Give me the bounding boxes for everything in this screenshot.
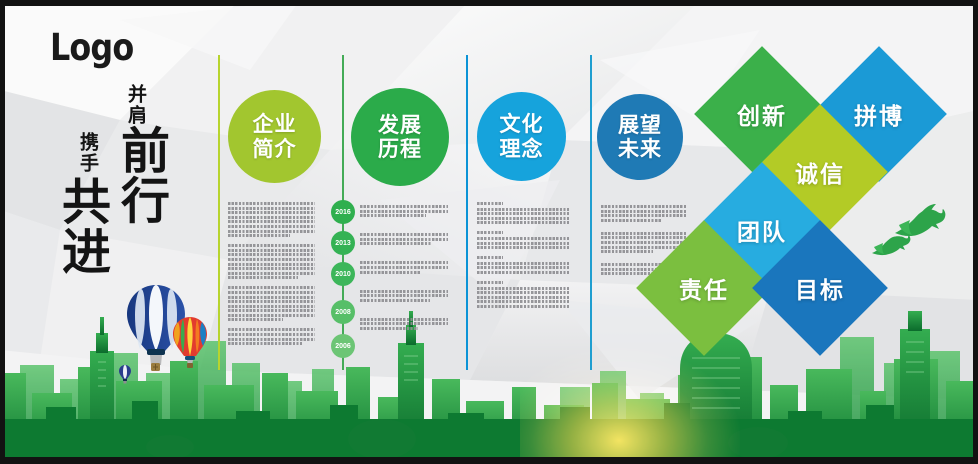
value-label: 目标 [795,271,845,305]
section-circle-company-profile[interactable]: 企业 简介 [228,90,321,183]
slogan-qianxing: 前行 [117,125,166,225]
paragraph [228,328,315,345]
paragraph [228,286,315,321]
timeline-dot-2013[interactable]: 2013 [331,231,355,255]
section-circle-culture-philosophy[interactable]: 文化 理念 [477,92,566,181]
circle-title-line1: 文化 [500,112,544,136]
value-label: 责任 [679,271,729,305]
paragraph [360,233,448,245]
slogan-xieshou: 携手 [78,132,97,174]
timeline-year: 2016 [335,209,351,216]
paragraph [360,205,448,217]
timeline-dot-2008[interactable]: 2008 [331,300,355,324]
circle-title-line1: 展望 [618,113,662,137]
hot-air-balloon-small-icon [172,316,208,368]
section-circle-development-history[interactable]: 发展 历程 [351,88,449,186]
circle-title-line2: 理念 [500,137,544,161]
timeline-dot-2006[interactable]: 2006 [331,334,355,358]
dove-icon [868,230,914,262]
paragraph [477,256,569,274]
timeline-year: 2008 [335,309,351,316]
divider-line-3 [466,55,468,370]
value-label: 诚信 [795,155,845,189]
divider-line-1 [218,55,220,370]
timeline-dot-2016[interactable]: 2016 [331,200,355,224]
paragraph [601,205,687,222]
text-block-development-history [360,205,448,337]
circle-title-line1: 发展 [378,113,422,137]
timeline-year: 2013 [335,240,351,247]
paragraph [360,290,448,302]
timeline-dot-2010[interactable]: 2010 [331,262,355,286]
text-block-company-profile [228,202,315,352]
paragraph [228,244,315,279]
slogan-gongjin: 共进 [58,176,107,276]
paragraph [228,202,315,237]
paragraph [477,231,569,249]
timeline-year: 2010 [335,271,351,278]
slogan-bingjian: 并肩 [126,84,145,126]
paragraph [360,318,448,330]
logo[interactable]: Logo [50,26,133,69]
section-circle-future-outlook[interactable]: 展望 未来 [597,94,683,180]
text-block-culture-philosophy [477,202,569,315]
culture-wall-poster: Logo 并肩 前行 携手 共进 [0,0,978,464]
value-label: 拼博 [854,97,904,131]
value-label: 创新 [737,97,787,131]
paragraph [477,202,569,224]
circle-title-line2: 简介 [253,137,297,161]
timeline-year: 2006 [335,343,351,350]
frame-right-edge [973,0,978,464]
paragraph [477,281,569,308]
circle-title-line1: 企业 [253,112,297,136]
value-label: 团队 [737,213,787,247]
frame-left-edge [0,0,5,464]
frame-top-band [0,0,978,6]
frame-bottom-band [0,457,978,464]
paragraph [360,261,448,273]
divider-line-4 [590,55,592,370]
circle-title-line2: 历程 [378,137,422,161]
circle-title-line2: 未来 [618,137,662,161]
hot-air-balloon-tiny-icon [118,364,132,384]
